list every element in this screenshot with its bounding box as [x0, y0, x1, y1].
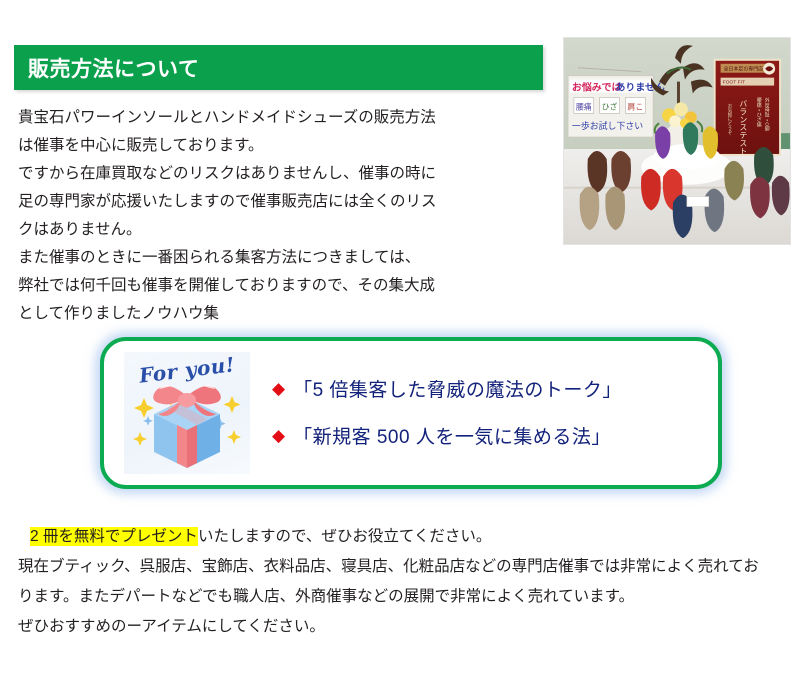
product-display-photo: お悩みでは ありません 腰痛 ひざ 肩こ 一歩お試し下さい	[563, 37, 791, 245]
diamond-bullet-icon: ◆	[272, 427, 285, 444]
svg-text:バランステスト: バランステスト	[739, 99, 748, 155]
svg-text:一歩お試し下さい: 一歩お試し下さい	[572, 120, 643, 131]
intro-line: 足の専門家が応援いたしますので催事販売店には全くのリス	[18, 188, 538, 216]
svg-text:ひざ: ひざ	[602, 101, 618, 111]
bonus-bullet-item: ◆ 「新規客 500 人を一気に集める法」	[272, 422, 622, 449]
bonus-bullet-list: ◆ 「5 倍集客した脅威の魔法のトーク」 ◆ 「新規客 500 人を一気に集める…	[272, 375, 622, 451]
bonus-offer-box: For you!	[100, 337, 722, 489]
intro-line: ですから在庫買取などのリスクはありませんし、催事の時に	[18, 160, 538, 188]
intro-line: クはありません。	[18, 216, 538, 244]
closing-paragraph: 2 冊を無料でプレゼントいたしますので、ぜひお役立てください。 現在ブティック、…	[18, 522, 798, 642]
closing-line: 現在ブティック、呉服店、宝飾店、衣料品店、寝具店、化粧品店などの専門店催事では非…	[18, 552, 798, 582]
gift-box-image: For you!	[124, 352, 250, 474]
closing-line: ぜひおすすめのーアイテムにしてください。	[18, 612, 798, 642]
intro-line: は催事を中心に販売しております。	[18, 132, 538, 160]
intro-line: 弊社では何千回も催事を開催しておりますので、その集大成	[18, 272, 538, 300]
svg-text:腰痛: 腰痛	[576, 101, 592, 111]
bonus-bullet-label: 「新規客 500 人を一気に集める法」	[293, 422, 611, 449]
intro-line: として作りましたノウハウ集	[18, 300, 538, 328]
svg-text:全日本足の専門店: 全日本足の専門店	[724, 66, 764, 73]
svg-text:FOOT FIT: FOOT FIT	[723, 80, 745, 86]
svg-text:お気軽にどうぞ: お気軽にどうぞ	[727, 103, 733, 136]
svg-text:肩こ: 肩こ	[627, 102, 643, 111]
diamond-bullet-icon: ◆	[272, 380, 285, 397]
closing-line-rest: いたしますので、ぜひお役立てください。	[198, 528, 491, 545]
page-title: 販売方法について	[14, 53, 199, 83]
bonus-bullet-label: 「5 倍集客した脅威の魔法のトーク」	[293, 375, 622, 402]
bonus-bullet-item: ◆ 「5 倍集客した脅威の魔法のトーク」	[272, 375, 622, 402]
intro-line: また催事のときに一番困られる集客方法につきましては、	[18, 244, 538, 272]
svg-text:お悩みでは: お悩みでは	[572, 81, 622, 94]
svg-text:腰痛・ひざ痛: 腰痛・ひざ痛	[756, 97, 761, 128]
intro-paragraph: 貴宝石パワーインソールとハンドメイドシューズの販売方法 は催事を中心に販売してお…	[18, 104, 538, 328]
product-display-photo-graphic: お悩みでは ありません 腰痛 ひざ 肩こ 一歩お試し下さい	[564, 38, 790, 244]
highlighted-offer-text: 2 冊を無料でプレゼント	[30, 527, 198, 546]
closing-line: ります。またデパートなどでも職人店、外商催事などの展開で非常によく売れています。	[18, 582, 798, 612]
intro-line: 貴宝石パワーインソールとハンドメイドシューズの販売方法	[18, 104, 538, 132]
closing-line-highlight: 2 冊を無料でプレゼントいたしますので、ぜひお役立てください。	[18, 522, 798, 552]
section-header-banner: 販売方法について	[14, 45, 543, 90]
